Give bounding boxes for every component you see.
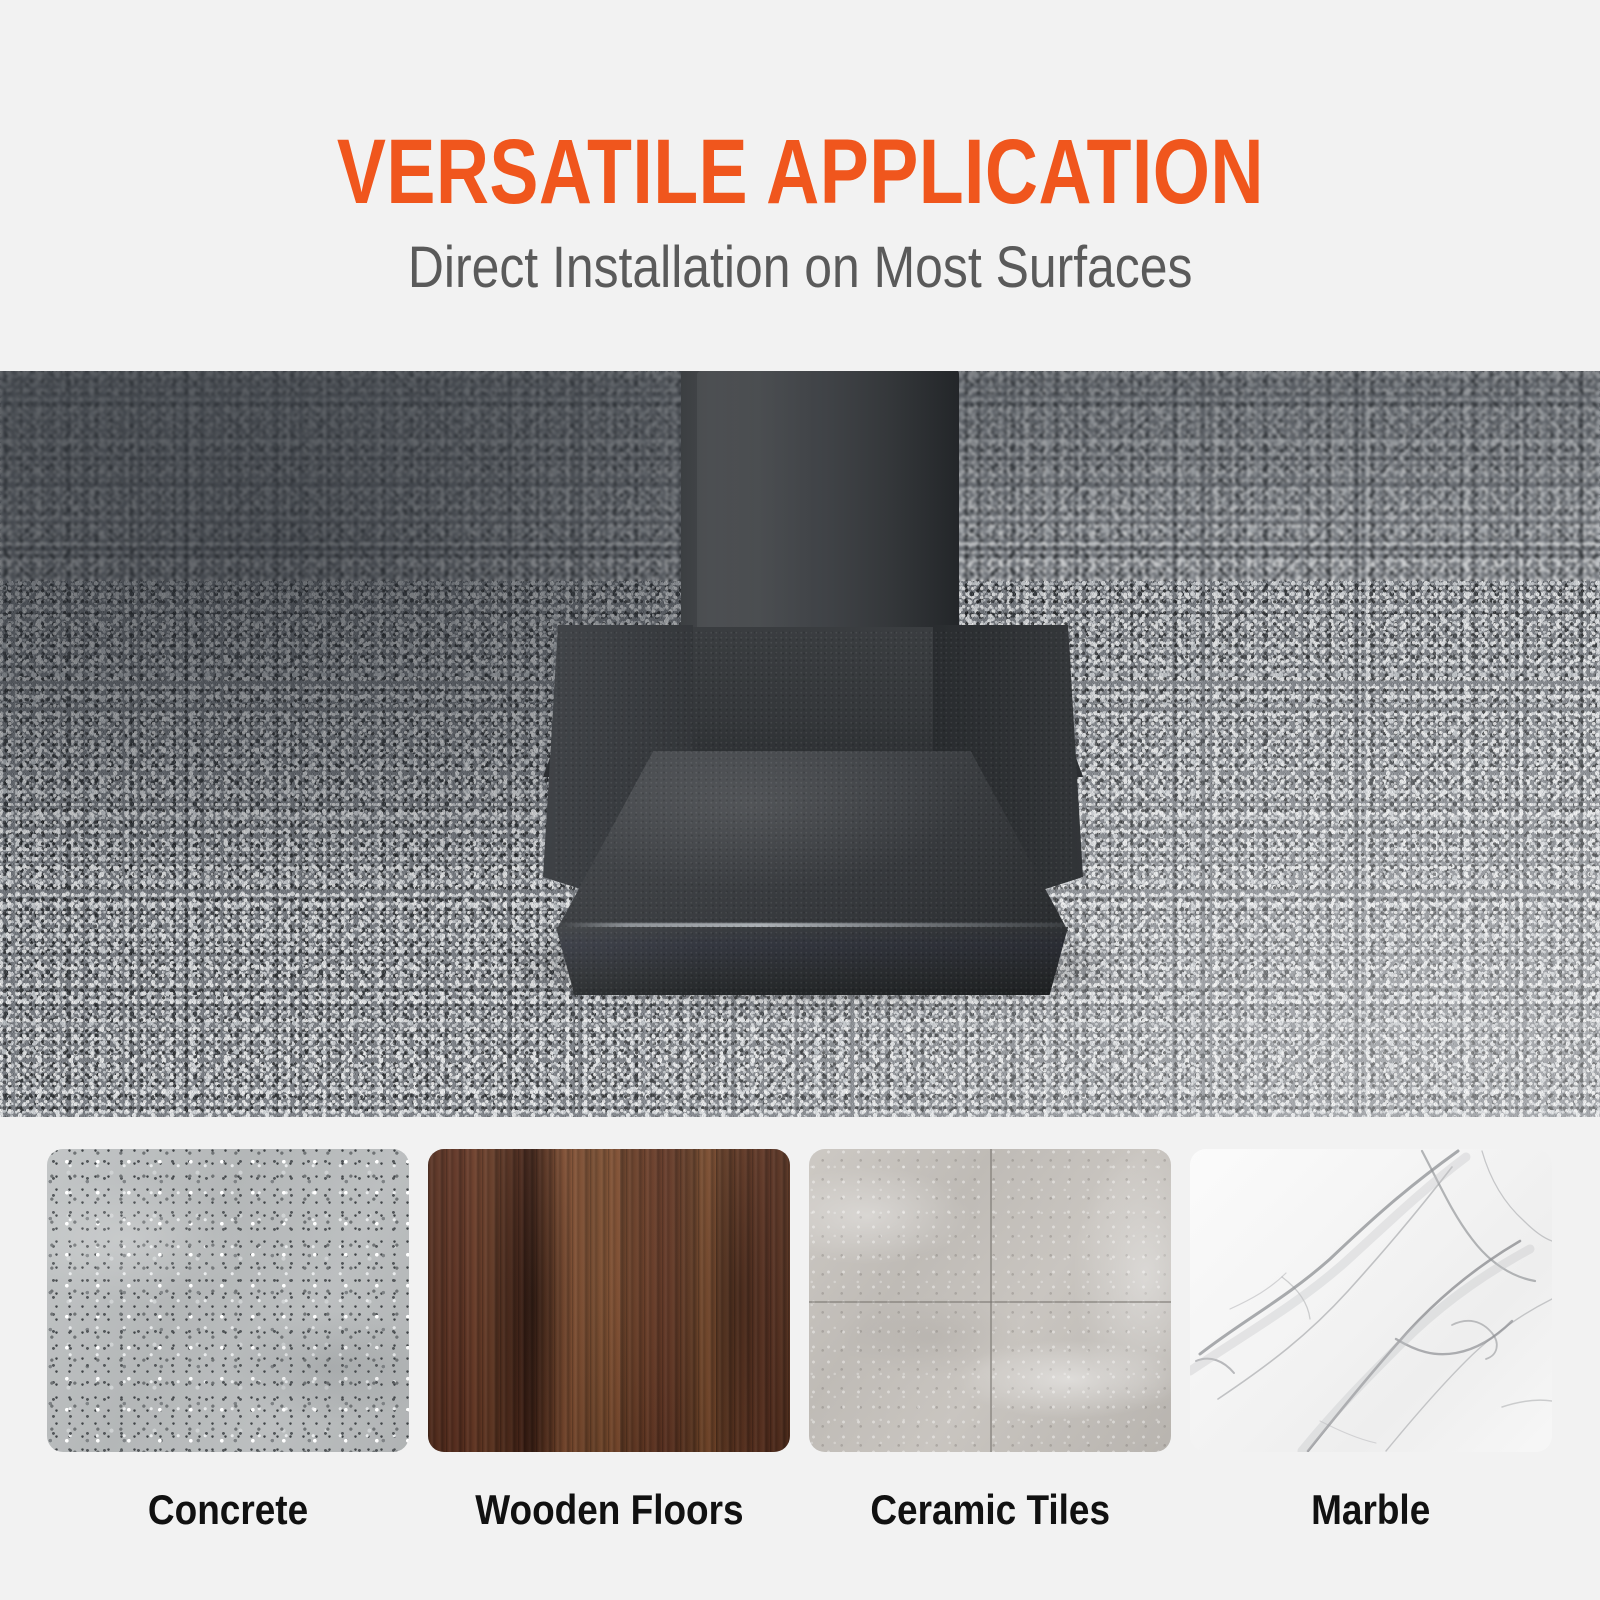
marble-veining <box>1190 1149 1552 1452</box>
wooden-floors-swatch[interactable] <box>428 1149 790 1452</box>
base-skirt-shading <box>548 927 1076 995</box>
surface-label-concrete: Concrete <box>148 1486 308 1534</box>
surface-label-marble: Marble <box>1311 1486 1430 1534</box>
surface-item-wooden-floors[interactable]: Wooden Floors <box>428 1149 790 1534</box>
concrete-swatch[interactable] <box>47 1149 409 1452</box>
surface-item-concrete[interactable]: Concrete <box>47 1149 409 1534</box>
marble-swatch[interactable] <box>1190 1149 1552 1452</box>
ceramic-tiles-swatch[interactable] <box>809 1149 1171 1452</box>
surface-item-marble[interactable]: Marble <box>1190 1149 1552 1534</box>
surface-item-ceramic-tiles[interactable]: Ceramic Tiles <box>809 1149 1171 1534</box>
surface-label-wooden-floors: Wooden Floors <box>475 1486 743 1534</box>
tile-grout-horizontal <box>809 1301 1171 1303</box>
page-title: VERSATILE APPLICATION <box>336 130 1263 215</box>
post-base-assembly <box>0 371 1600 1117</box>
surface-label-ceramic-tiles: Ceramic Tiles <box>870 1486 1110 1534</box>
hero-product-photo <box>0 371 1600 1117</box>
page-subtitle: Direct Installation on Most Surfaces <box>408 239 1193 297</box>
header-banner: VERSATILE APPLICATION Direct Installatio… <box>0 0 1600 371</box>
surface-swatch-strip: Concrete Wooden Floors Ceramic Tiles <box>0 1117 1600 1600</box>
